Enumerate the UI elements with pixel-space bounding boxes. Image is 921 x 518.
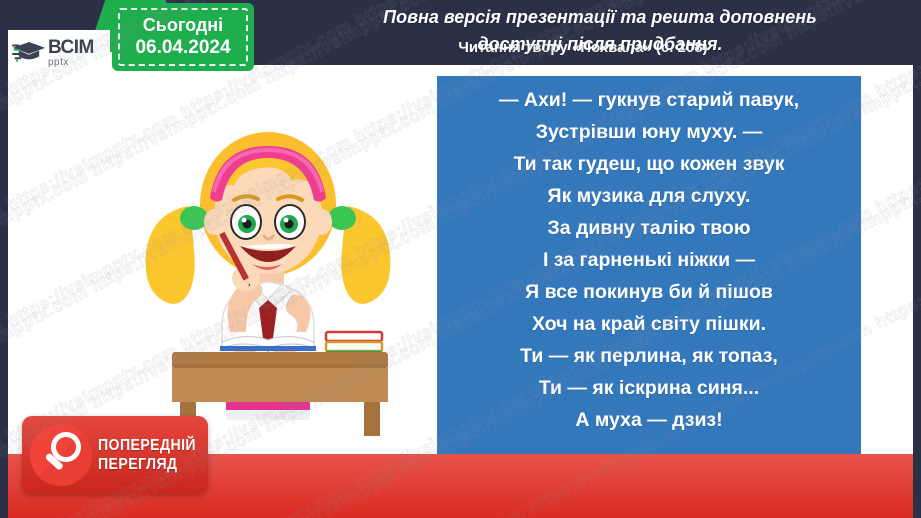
poem-line: За дивну талію твою (548, 212, 751, 244)
girl-at-desk-illustration (118, 96, 418, 436)
logo-name: ВСІМ (48, 38, 94, 57)
preview-badge-label: ПОПЕРЕДНІЙ ПЕРЕГЛЯД (98, 436, 196, 474)
logo-suffix: pptx (48, 58, 94, 68)
preview-badge-line2: ПЕРЕГЛЯД (98, 455, 196, 474)
purchase-banner-text: Повна версія презентації та решта доповн… (300, 4, 900, 58)
logo-wordmark: ВСІМ pptx (48, 38, 94, 68)
poem-panel: — Ахи! — гукнув старий павук, Зустрівши … (437, 76, 861, 455)
poem-line: Хоч на край світу пішки. (532, 308, 766, 340)
poem-line: Ти — як перлина, як топаз, (520, 340, 778, 372)
purchase-banner-line2: доступні після придбання. (300, 31, 900, 58)
brand-logo[interactable]: ВСІМ pptx (8, 30, 110, 76)
poem-line: — Ахи! — гукнув старий павук, (499, 84, 799, 116)
preview-badge[interactable]: ПОПЕРЕДНІЙ ПЕРЕГЛЯД (22, 416, 208, 494)
presentation-slide: — Ахи! — гукнув старий павук, Зустрівши … (0, 0, 921, 518)
poem-line: Ти так гудеш, що кожен звук (513, 148, 784, 180)
purchase-banner-line1: Повна версія презентації та решта доповн… (300, 4, 900, 31)
date-badge-label: Сьогодні (143, 14, 223, 37)
poem-line: І за гарненькі ніжки — (543, 244, 755, 276)
poem-line: А муха — дзиз! (575, 404, 722, 436)
slide-right-border (913, 0, 921, 518)
poem-line: Як музика для слуху. (548, 180, 751, 212)
poem-line: Ти — як іскрина синя... (539, 372, 759, 404)
poem-line: Я все покинув би й пішов (525, 276, 773, 308)
preview-badge-line1: ПОПЕРЕДНІЙ (98, 436, 196, 455)
poem-line: Зустрівши юну муху. — (536, 116, 762, 148)
graduation-cap-icon (12, 38, 46, 68)
slide-left-border (0, 0, 8, 518)
today-date-badge: Сьогодні 06.04.2024 (112, 3, 254, 71)
date-badge-value: 06.04.2024 (135, 36, 230, 60)
magnifier-icon (30, 424, 92, 486)
